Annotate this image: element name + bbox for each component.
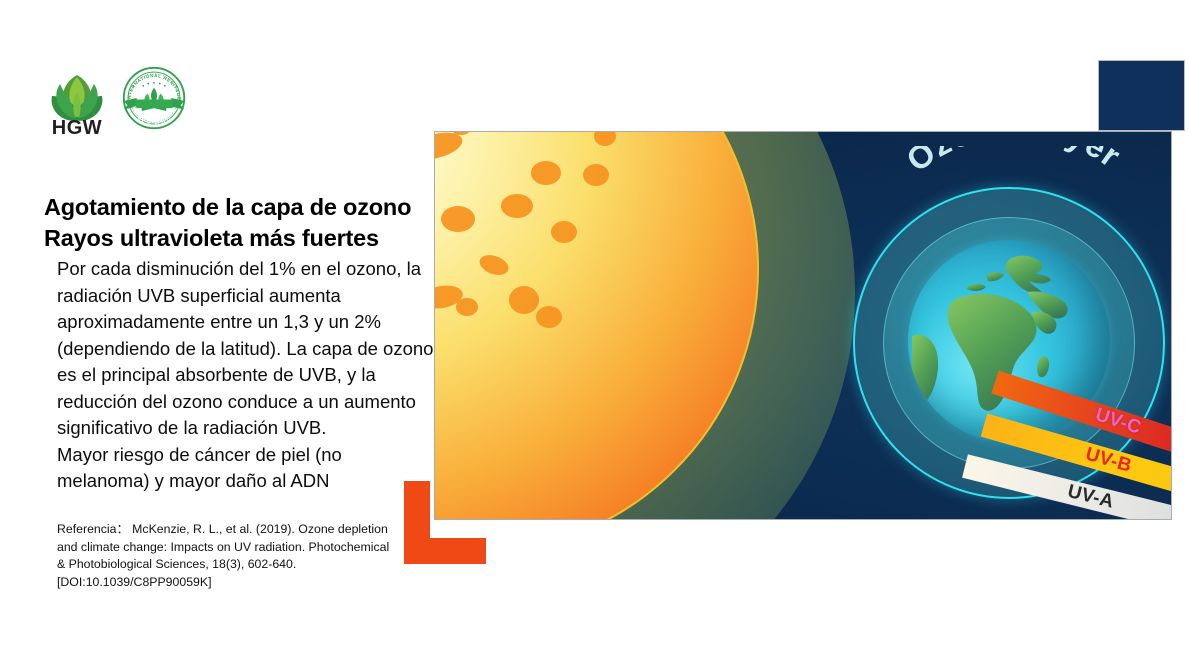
body-paragraph-2: Mayor riesgo de cáncer de piel (no melan… — [57, 442, 435, 495]
reference-line-3: & Photobiological Sciences, 18(3), 602-6… — [57, 556, 427, 574]
body-paragraph-1: Por cada disminución del 1% en el ozono,… — [57, 256, 435, 442]
reference-line-1: Referencia： McKenzie, R. L., et al. (201… — [57, 521, 427, 539]
page-title: Agotamiento de la capa de ozono Rayos ul… — [44, 192, 434, 254]
orange-l-horizontal-bar — [404, 538, 486, 564]
headline-line-1: Agotamiento de la capa de ozono — [44, 192, 434, 223]
brand-logo-row: HGW INTERNATIONAL HERITAGE GREEN WORLD — [44, 60, 194, 142]
ozone-illustration-panel: Ozone Layer UV-A UV-B UV-C — [434, 131, 1172, 520]
reference-line-2: and climate change: Impacts on UV radiat… — [57, 539, 427, 557]
navy-block-decoration — [1098, 60, 1185, 131]
body-copy: Por cada disminución del 1% en el ozono,… — [57, 256, 435, 495]
orange-l-decoration — [404, 481, 486, 564]
reference-line-4: [DOI:10.1039/C8PP90059K] — [57, 574, 427, 592]
hgw-wordmark: HGW — [44, 117, 110, 140]
headline-line-2: Rayos ultravioleta más fuertes — [44, 223, 434, 254]
green-world-seal: INTERNATIONAL HERITAGE GREEN WORLD — [118, 62, 190, 134]
reference-citation: Referencia： McKenzie, R. L., et al. (201… — [57, 521, 427, 591]
